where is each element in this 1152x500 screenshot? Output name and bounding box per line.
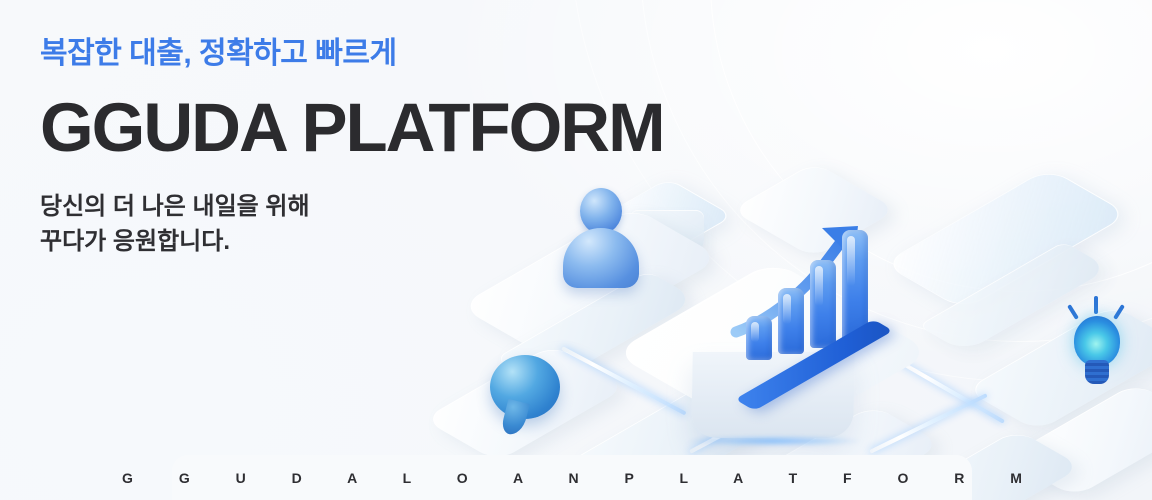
lightbulb-ray — [1094, 296, 1098, 314]
hero-tagline: 복잡한 대출, 정확하고 빠르게 — [40, 36, 664, 72]
lightbulb-base — [1085, 360, 1109, 384]
pedestal-glow — [686, 436, 862, 446]
chart-bar — [810, 260, 836, 348]
subtitle-tail-1: 위해 — [265, 193, 309, 220]
subtitle-strong-2: 응원합니다. — [113, 228, 230, 255]
bottom-brand-strip: G G U D A L O A N P L A T F O R M — [172, 455, 972, 500]
hero-banner: 복잡한 대출, 정확하고 빠르게 GGUDA PLATFORM 당신의 더 나은… — [0, 0, 1152, 500]
hero-subtitle-line-1: 당신의 더 나은 내일을 위해 — [40, 190, 664, 225]
lightbulb-glass — [1074, 316, 1120, 366]
bar-chart-icon — [730, 238, 920, 378]
page-title: GGUDA PLATFORM — [40, 92, 664, 164]
lightbulb-ray — [1113, 304, 1125, 320]
chart-bar — [778, 288, 804, 354]
hero-subtitle-line-2: 꾸다가 응원합니다. — [40, 225, 664, 260]
subtitle-soft-1: 당신의 — [40, 193, 113, 220]
lightbulb-icon — [1060, 298, 1132, 398]
lightbulb-ray — [1067, 304, 1079, 320]
hero-subtitle: 당신의 더 나은 내일을 위해 꾸다가 응원합니다. — [40, 190, 664, 260]
subtitle-strong-1: 더 나은 내일을 — [113, 193, 265, 220]
speech-bubble-icon — [490, 355, 562, 441]
chart-bar — [746, 316, 772, 360]
hero-copy-block: 복잡한 대출, 정확하고 빠르게 GGUDA PLATFORM 당신의 더 나은… — [40, 36, 664, 260]
bottom-brand-text: G G U D A L O A N P L A T F O R M — [101, 470, 1043, 486]
subtitle-soft-2: 꾸다가 — [40, 228, 113, 255]
